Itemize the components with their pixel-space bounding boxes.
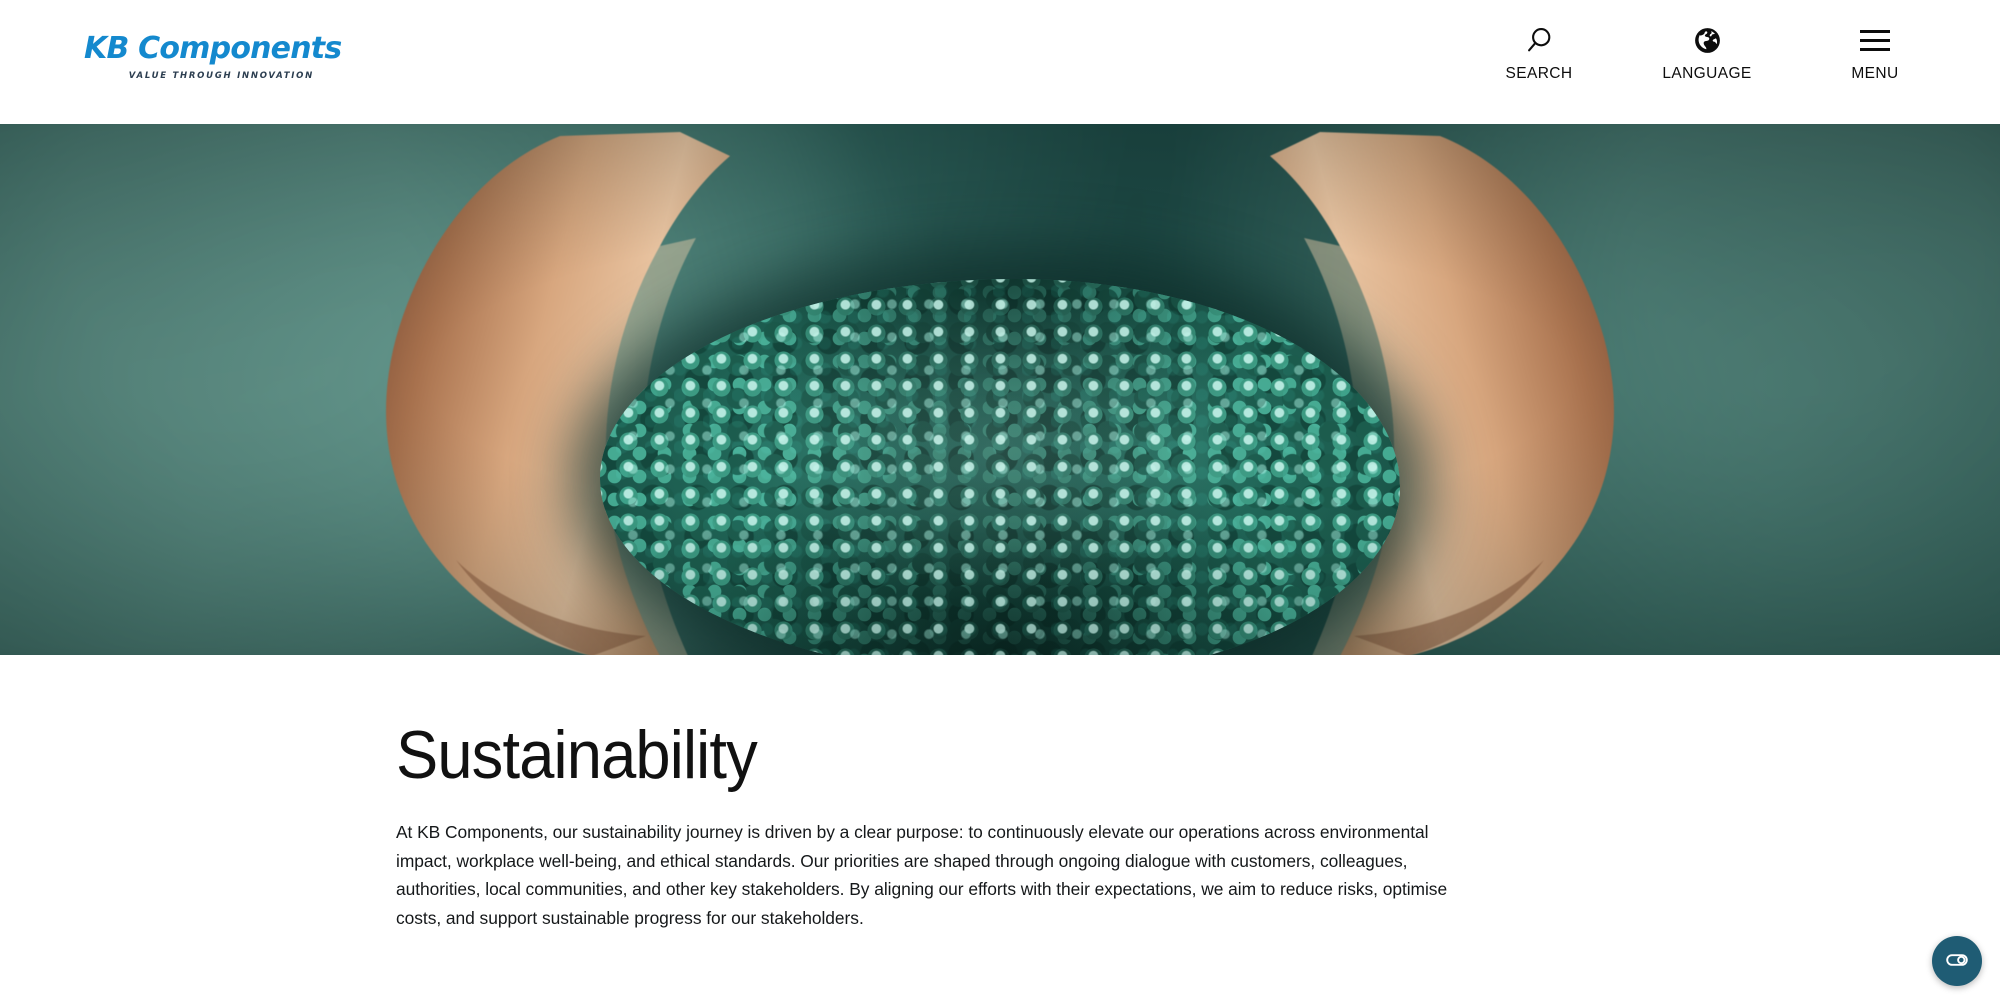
logo-wordmark: KB Components bbox=[84, 32, 314, 66]
logo-tagline: VALUE THROUGH INNOVATION bbox=[84, 71, 314, 82]
main-content: Sustainability At KB Components, our sus… bbox=[0, 655, 2000, 1003]
hero-banner bbox=[0, 124, 2000, 655]
nav-item-search[interactable]: SEARCH bbox=[1484, 20, 1594, 83]
nav-item-language[interactable]: LANGUAGE bbox=[1652, 20, 1762, 83]
site-header: KB Components VALUE THROUGH INNOVATION S… bbox=[0, 0, 2000, 124]
nav-label-search: SEARCH bbox=[1506, 65, 1573, 83]
page-title: Sustainability bbox=[396, 716, 1419, 794]
hamburger-menu-icon bbox=[1860, 20, 1890, 60]
hero-pellet-pile bbox=[600, 279, 1400, 655]
site-logo[interactable]: KB Components VALUE THROUGH INNOVATION bbox=[84, 32, 314, 96]
nav-label-menu: MENU bbox=[1851, 65, 1898, 83]
page-root: KB Components VALUE THROUGH INNOVATION S… bbox=[0, 0, 2000, 1003]
header-nav: SEARCH LANGUAGE bbox=[1484, 20, 1930, 83]
search-icon bbox=[1526, 20, 1552, 60]
globe-icon bbox=[1694, 20, 1721, 60]
pellet-pile-shading bbox=[600, 279, 1400, 655]
accessibility-widget-button[interactable] bbox=[1932, 936, 1982, 986]
content-container: Sustainability At KB Components, our sus… bbox=[396, 655, 1496, 932]
page-intro-paragraph: At KB Components, our sustainability jou… bbox=[396, 818, 1468, 932]
nav-label-language: LANGUAGE bbox=[1662, 65, 1751, 83]
accessibility-toggle-icon bbox=[1944, 947, 1970, 976]
nav-item-menu[interactable]: MENU bbox=[1820, 20, 1930, 83]
